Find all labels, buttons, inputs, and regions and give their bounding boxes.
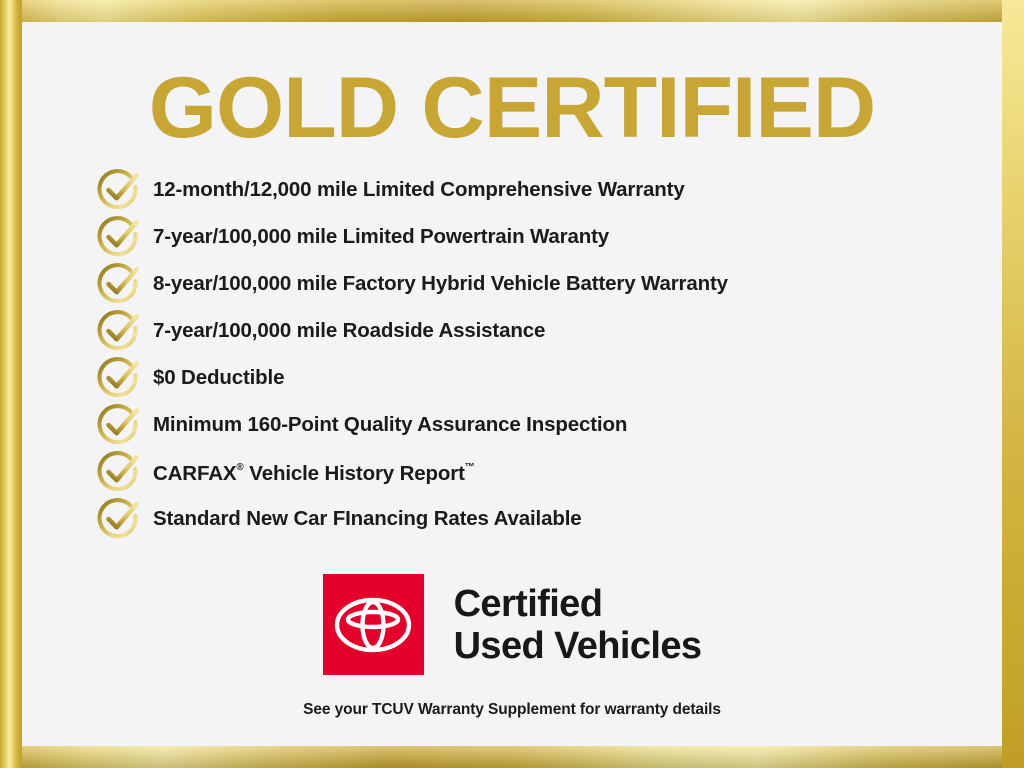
poster-card: GOLD CERTIFIED 12-month/12,000 mile Limi… <box>22 22 1002 746</box>
feature-label: 7-year/100,000 mile Roadside Assistance <box>153 319 545 343</box>
feature-row: Standard New Car FInancing Rates Availab… <box>96 494 996 541</box>
gold-check-icon <box>96 495 142 541</box>
toyota-emblem-icon <box>334 597 412 653</box>
gold-border-bottom <box>0 746 1024 768</box>
lockup-line-certified: Certified <box>454 583 702 625</box>
feature-row: 12-month/12,000 mile Limited Comprehensi… <box>96 165 996 212</box>
toyota-badge <box>323 574 424 675</box>
carfax-brand: CARFAX <box>153 461 236 484</box>
gold-check-icon <box>96 307 142 353</box>
feature-label: Minimum 160-Point Quality Assurance Insp… <box>153 413 627 437</box>
lockup-line-used-vehicles: Used Vehicles <box>454 625 702 667</box>
gold-border-top <box>0 0 1024 22</box>
feature-label: $0 Deductible <box>153 366 284 390</box>
feature-row: CARFAX® Vehicle History Report™ <box>96 447 996 494</box>
feature-label: Standard New Car FInancing Rates Availab… <box>153 507 582 531</box>
gold-check-icon <box>96 166 142 212</box>
trademark-mark-icon: ™ <box>465 462 475 473</box>
warranty-disclaimer: See your TCUV Warranty Supplement for wa… <box>22 701 1002 719</box>
gold-check-icon <box>96 213 142 259</box>
gold-check-icon <box>96 260 142 306</box>
page-title: GOLD CERTIFIED <box>12 62 1012 154</box>
feature-label: 7-year/100,000 mile Limited Powertrain W… <box>153 225 609 249</box>
feature-label: 8-year/100,000 mile Factory Hybrid Vehic… <box>153 272 728 296</box>
registered-mark-icon: ® <box>236 462 243 473</box>
gold-check-icon <box>96 401 142 447</box>
feature-label: 12-month/12,000 mile Limited Comprehensi… <box>153 178 685 202</box>
gold-border-left <box>0 0 22 768</box>
feature-list: 12-month/12,000 mile Limited Comprehensi… <box>96 165 996 541</box>
gold-check-icon <box>96 448 142 494</box>
gold-certified-poster: GOLD CERTIFIED 12-month/12,000 mile Limi… <box>0 0 1024 768</box>
feature-row: $0 Deductible <box>96 353 996 400</box>
gold-check-icon <box>96 354 142 400</box>
feature-row: 7-year/100,000 mile Roadside Assistance <box>96 306 996 353</box>
feature-row: 8-year/100,000 mile Factory Hybrid Vehic… <box>96 259 996 306</box>
toyota-certified-used-vehicles-lockup: Certified Used Vehicles <box>22 574 1002 675</box>
gold-border-right <box>1002 0 1024 768</box>
feature-label: CARFAX® Vehicle History Report™ <box>153 458 475 486</box>
feature-row: Minimum 160-Point Quality Assurance Insp… <box>96 400 996 447</box>
lockup-text: Certified Used Vehicles <box>454 583 702 667</box>
carfax-report-label: Vehicle History Report <box>244 461 465 484</box>
feature-row: 7-year/100,000 mile Limited Powertrain W… <box>96 212 996 259</box>
